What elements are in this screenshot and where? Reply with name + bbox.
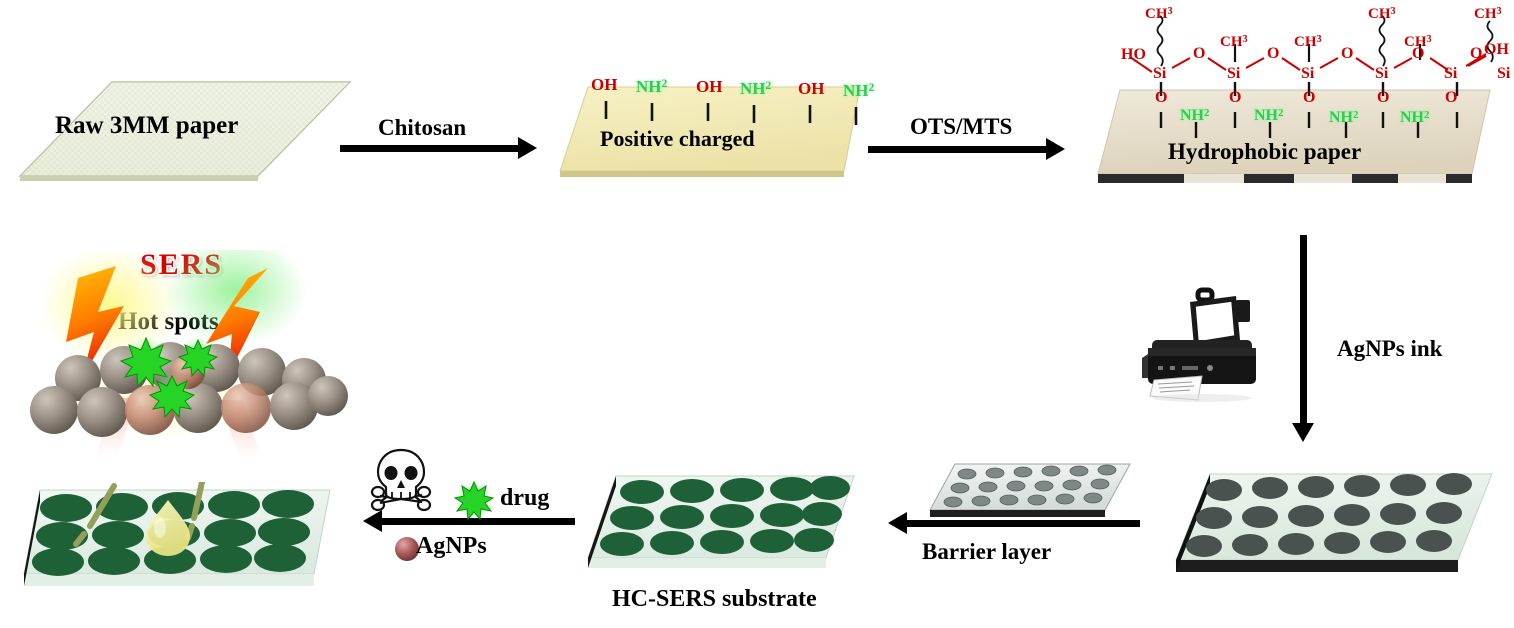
barrier-layer-plate bbox=[925, 460, 1145, 535]
o-surface-4: O bbox=[1377, 90, 1389, 106]
drug-star-icon bbox=[452, 478, 496, 522]
si-atom-4: Si bbox=[1375, 66, 1388, 82]
o-surface-2: O bbox=[1229, 90, 1241, 106]
agnps-ink-arrow bbox=[1300, 235, 1307, 425]
o-bridge-3: O bbox=[1341, 46, 1353, 62]
positive-charged-label: Positive charged bbox=[600, 126, 755, 152]
chitosan-arrow-label: Chitosan bbox=[378, 115, 466, 141]
skull-crossbones-icon bbox=[370, 446, 432, 512]
o-bridge-1: O bbox=[1193, 46, 1205, 62]
detection-substrate bbox=[18, 482, 348, 597]
nh2-surface-3: NH2 bbox=[1329, 110, 1353, 126]
o-surface-1: O bbox=[1155, 90, 1167, 106]
o-bridge-2: O bbox=[1267, 46, 1279, 62]
si-atom-3: Si bbox=[1301, 66, 1314, 82]
ch3-group-2: CH3 bbox=[1220, 35, 1243, 50]
sers-hotspot-illustration bbox=[20, 250, 350, 510]
ch3-group-6: CH3 bbox=[1474, 7, 1497, 22]
nh2-group-1: NH2 bbox=[636, 78, 662, 95]
inkjet-printer-icon bbox=[1140, 286, 1280, 402]
oh-terminal-right: OH bbox=[1484, 42, 1509, 58]
ch3-group-4: CH3 bbox=[1368, 7, 1391, 22]
nh2-surface-2: NH2 bbox=[1254, 108, 1278, 124]
chitosan-arrow bbox=[340, 145, 520, 152]
agnps-legend-label: AgNPs bbox=[416, 533, 487, 560]
barrier-layer-label: Barrier layer bbox=[922, 539, 1051, 565]
ch3-group-5: CH3 bbox=[1404, 35, 1427, 50]
ho-terminal-left: HO bbox=[1121, 47, 1146, 63]
si-atom-5: Si bbox=[1444, 66, 1457, 82]
hc-sers-substrate bbox=[582, 470, 872, 585]
hc-sers-substrate-label: HC-SERS substrate bbox=[612, 586, 817, 613]
o-bridge-5: O bbox=[1470, 46, 1482, 62]
oh-group-2: OH bbox=[696, 78, 722, 95]
raw-paper-label: Raw 3MM paper bbox=[55, 112, 238, 140]
nh2-surface-1: NH2 bbox=[1180, 108, 1204, 124]
hydrophobic-paper-label: Hydrophobic paper bbox=[1168, 139, 1361, 165]
si-atom-2: Si bbox=[1227, 66, 1240, 82]
nh2-surface-4: NH2 bbox=[1400, 110, 1424, 126]
ots-mts-arrow-label: OTS/MTS bbox=[910, 114, 1012, 140]
si-atom-6: Si bbox=[1497, 66, 1510, 82]
drug-legend-label: drug bbox=[500, 485, 549, 512]
ch3-group-1: CH3 bbox=[1145, 7, 1168, 22]
printed-agnps-substrate bbox=[1162, 468, 1507, 593]
agnps-ink-label: AgNPs ink bbox=[1337, 336, 1442, 362]
oh-group-1: OH bbox=[591, 76, 617, 93]
si-atom-1: Si bbox=[1153, 66, 1166, 82]
ots-mts-arrow bbox=[868, 146, 1048, 153]
ch3-group-3: CH3 bbox=[1294, 35, 1317, 50]
o-surface-3: O bbox=[1303, 90, 1315, 106]
o-surface-5: O bbox=[1445, 90, 1457, 106]
